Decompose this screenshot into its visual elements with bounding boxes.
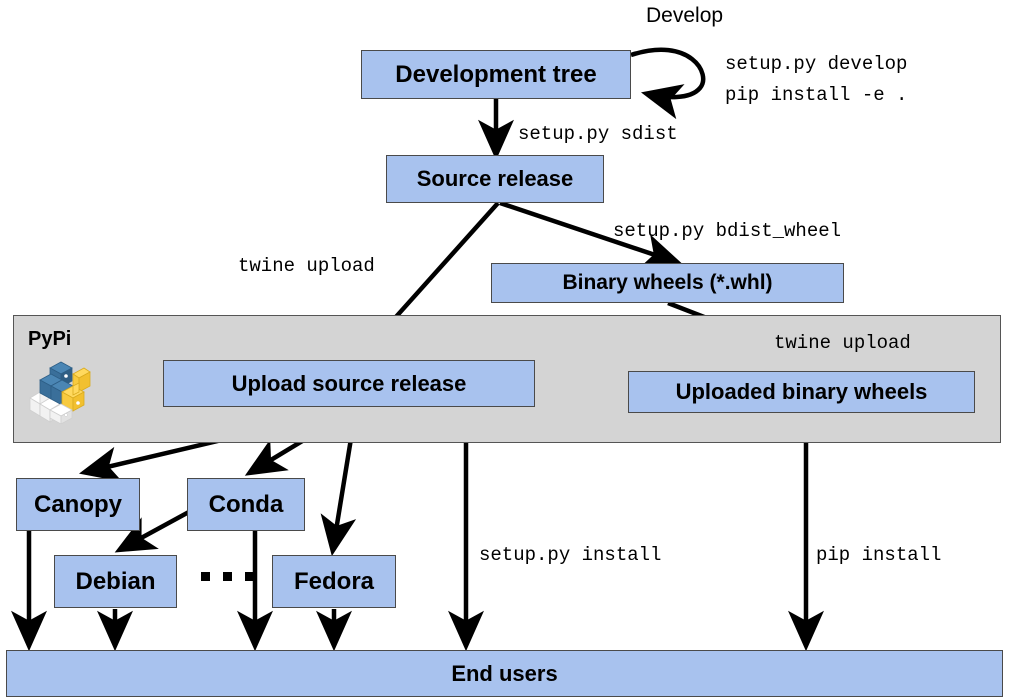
node-conda[interactable]: Conda [187,478,305,531]
node-fedora[interactable]: Fedora [272,555,396,608]
label-setup-py-develop: setup.py develop [725,53,907,75]
label-pip-install-editable: pip install -e . [725,84,907,106]
ellipsis-dots [201,572,254,581]
pypi-panel-label: PyPi [28,328,71,351]
pypi-logo-icon [28,358,92,424]
label-twine-upload-source: twine upload [238,255,375,277]
ellipsis-dot [201,572,210,581]
label-setup-py-bdist-wheel: setup.py bdist_wheel [613,220,841,242]
node-development-tree[interactable]: Development tree [361,50,631,99]
node-canopy[interactable]: Canopy [16,478,140,531]
label-twine-upload-wheels: twine upload [774,332,911,354]
label-setup-py-install: setup.py install [479,544,661,566]
label-pip-install: pip install [816,544,941,566]
label-setup-py-sdist: setup.py sdist [518,123,678,145]
ellipsis-dot [245,572,254,581]
label-develop: Develop [646,4,723,28]
node-debian[interactable]: Debian [54,555,177,608]
node-end-users[interactable]: End users [6,650,1003,697]
node-upload-source-release[interactable]: Upload source release [163,360,535,407]
node-source-release[interactable]: Source release [386,155,604,203]
diagram-canvas: PyPi [0,0,1009,698]
ellipsis-dot [223,572,232,581]
node-uploaded-binary-wheels[interactable]: Uploaded binary wheels [628,371,975,413]
node-binary-wheels[interactable]: Binary wheels (*.whl) [491,263,844,303]
